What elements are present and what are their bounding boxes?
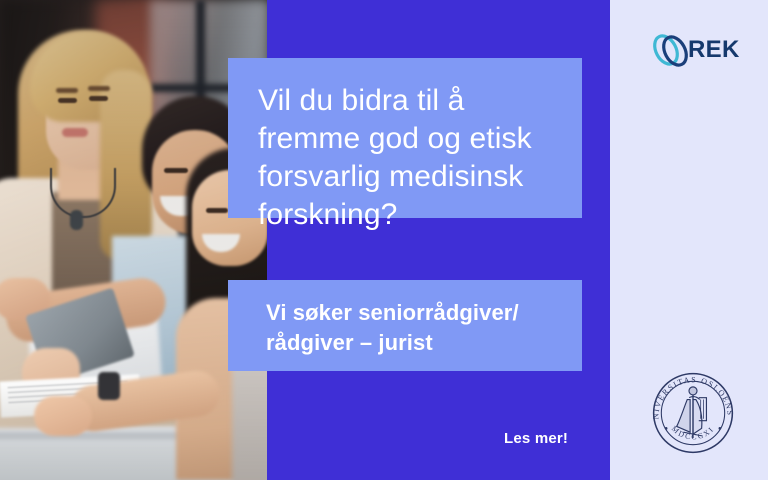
headline-card: Vil du bidra til å fremme god og etisk f… [228, 58, 582, 218]
headline-text: Vil du bidra til å fremme god og etisk f… [258, 82, 556, 234]
team-photo [0, 0, 267, 480]
rek-wordmark: REK [688, 36, 740, 64]
uio-seal-logo[interactable]: UNIVERSITAS OSLOENSIS MDCCCXI [645, 365, 741, 461]
read-more-link[interactable]: Les mer! [504, 430, 568, 447]
subheadline-text: Vi søker seniorrådgiver/ rådgiver – juri… [266, 298, 562, 358]
subheadline-card: Vi søker seniorrådgiver/ rådgiver – juri… [228, 280, 582, 371]
photo-color-tone [0, 0, 267, 480]
rek-logo[interactable]: REK [650, 28, 750, 72]
interlocking-rings-icon [650, 30, 692, 70]
recruitment-banner: Vil du bidra til å fremme god og etisk f… [0, 0, 768, 480]
